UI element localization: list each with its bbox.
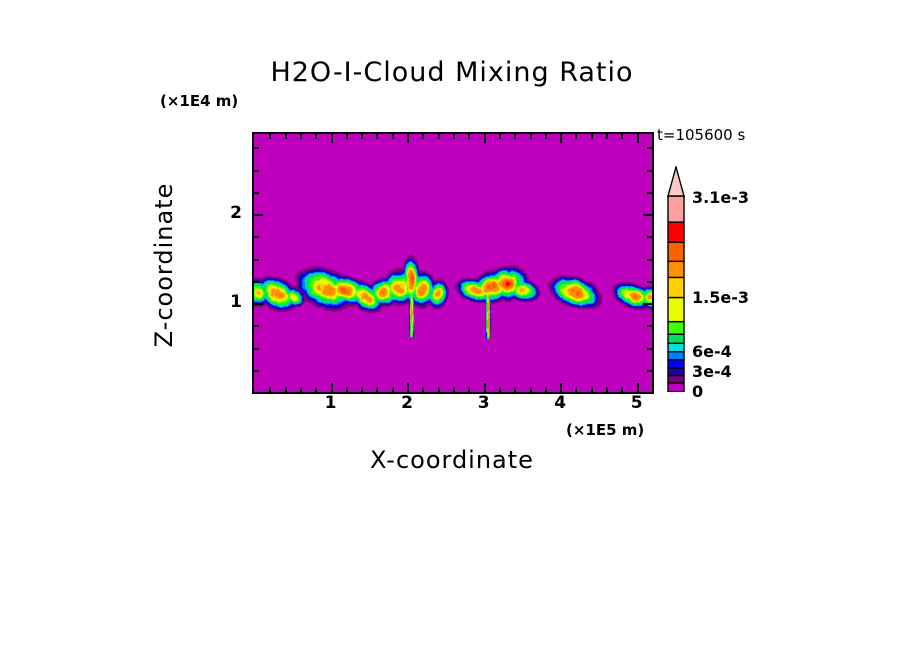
colorbar-tick-label: 6e-4 — [692, 342, 732, 361]
x-tick-top — [392, 134, 394, 139]
x-tick-minor — [361, 387, 363, 392]
x-tick-major — [407, 383, 409, 392]
y-tick-right — [643, 303, 652, 305]
cloud-mixing-ratio-heatmap — [254, 134, 652, 392]
colorbar-tick-label: 1.5e-3 — [692, 288, 749, 307]
y-tick-label: 1 — [224, 292, 242, 312]
x-tick-minor — [545, 387, 547, 392]
colorbar-band — [668, 343, 684, 352]
x-tick-major — [637, 383, 639, 392]
x-tick-top — [652, 134, 654, 139]
figure-root: H2O-I-Cloud Mixing Ratio (×1E4 m) t=1056… — [0, 0, 904, 654]
x-tick-major — [331, 383, 333, 392]
x-tick-top — [453, 134, 455, 139]
x-tick-minor — [499, 387, 501, 392]
y-tick-minor — [254, 281, 259, 283]
x-tick-label: 4 — [547, 393, 573, 413]
colorbar-tick-label: 3e-4 — [692, 362, 732, 381]
colorbar-band — [668, 298, 684, 322]
x-tick-top — [315, 134, 317, 139]
x-tick-top — [606, 134, 608, 139]
x-tick-minor — [376, 387, 378, 392]
x-tick-top — [468, 134, 470, 139]
time-annotation: t=105600 s — [657, 126, 745, 144]
colorbar-tick-label: 0 — [692, 382, 703, 401]
x-tick-minor — [575, 387, 577, 392]
x-tick-minor — [438, 387, 440, 392]
x-axis-unit-label: (×1E5 m) — [566, 421, 644, 439]
x-tick-label: 1 — [318, 393, 344, 413]
x-tick-top — [269, 134, 271, 139]
plot-area — [252, 132, 654, 394]
x-tick-minor — [652, 387, 654, 392]
y-tick-minor — [254, 192, 259, 194]
x-tick-minor — [346, 387, 348, 392]
x-tick-minor — [392, 387, 394, 392]
x-axis-title: X-coordinate — [0, 446, 904, 474]
y-axis-unit-label: (×1E4 m) — [160, 92, 238, 110]
x-tick-minor — [300, 387, 302, 392]
x-tick-minor — [606, 387, 608, 392]
y-tick-major — [254, 303, 263, 305]
y-tick-minor — [254, 370, 259, 372]
y-tick-right — [647, 147, 652, 149]
x-tick-top — [514, 134, 516, 139]
y-tick-right — [647, 192, 652, 194]
y-axis-title: Z-coordinate — [150, 140, 180, 390]
x-tick-top — [499, 134, 501, 139]
colorbar-swatches — [666, 166, 688, 392]
x-tick-minor — [315, 387, 317, 392]
colorbar-band — [668, 375, 684, 383]
colorbar-band — [668, 322, 684, 335]
colorbar-band — [668, 261, 684, 277]
x-tick-top — [300, 134, 302, 139]
x-tick-top — [530, 134, 532, 139]
x-tick-top — [361, 134, 363, 139]
x-tick-minor — [453, 387, 455, 392]
x-tick-minor — [621, 387, 623, 392]
x-tick-minor — [530, 387, 532, 392]
colorbar — [666, 166, 688, 392]
y-tick-right — [647, 170, 652, 172]
colorbar-band — [668, 196, 684, 222]
y-tick-minor — [254, 147, 259, 149]
x-tick-top — [285, 134, 287, 139]
x-tick-label: 5 — [624, 393, 650, 413]
colorbar-band — [668, 360, 684, 368]
y-tick-right — [643, 214, 652, 216]
y-tick-right — [647, 370, 652, 372]
colorbar-band — [668, 334, 684, 343]
y-tick-minor — [254, 236, 259, 238]
y-tick-minor — [254, 259, 259, 261]
colorbar-band — [668, 242, 684, 261]
colorbar-tick-label: 3.1e-3 — [692, 188, 749, 207]
x-tick-top — [575, 134, 577, 139]
x-tick-major — [560, 383, 562, 392]
y-tick-minor — [254, 325, 259, 327]
y-tick-right — [647, 325, 652, 327]
colorbar-overflow-arrow — [668, 167, 684, 196]
y-tick-right — [647, 348, 652, 350]
x-tick-major — [484, 383, 486, 392]
x-tick-top — [637, 134, 639, 143]
y-tick-right — [647, 259, 652, 261]
x-tick-top — [422, 134, 424, 139]
x-tick-minor — [514, 387, 516, 392]
colorbar-band — [668, 368, 684, 376]
colorbar-band — [668, 352, 684, 360]
y-tick-right — [647, 281, 652, 283]
x-tick-minor — [269, 387, 271, 392]
x-tick-top — [484, 134, 486, 143]
x-tick-top — [331, 134, 333, 143]
colorbar-band — [668, 222, 684, 242]
x-tick-top — [591, 134, 593, 139]
y-tick-major — [254, 214, 263, 216]
x-tick-top — [621, 134, 623, 139]
x-tick-minor — [468, 387, 470, 392]
x-tick-label: 2 — [394, 393, 420, 413]
y-tick-minor — [254, 348, 259, 350]
x-tick-top — [438, 134, 440, 139]
x-tick-top — [545, 134, 547, 139]
colorbar-band — [668, 277, 684, 297]
x-tick-minor — [422, 387, 424, 392]
x-tick-top — [407, 134, 409, 143]
colorbar-band — [668, 383, 684, 392]
y-tick-label: 2 — [224, 203, 242, 223]
x-tick-top — [560, 134, 562, 143]
x-tick-top — [376, 134, 378, 139]
page-title: H2O-I-Cloud Mixing Ratio — [0, 57, 904, 88]
x-tick-top — [346, 134, 348, 139]
x-tick-minor — [285, 387, 287, 392]
y-tick-minor — [254, 170, 259, 172]
y-tick-right — [647, 236, 652, 238]
x-tick-minor — [591, 387, 593, 392]
x-tick-label: 3 — [471, 393, 497, 413]
